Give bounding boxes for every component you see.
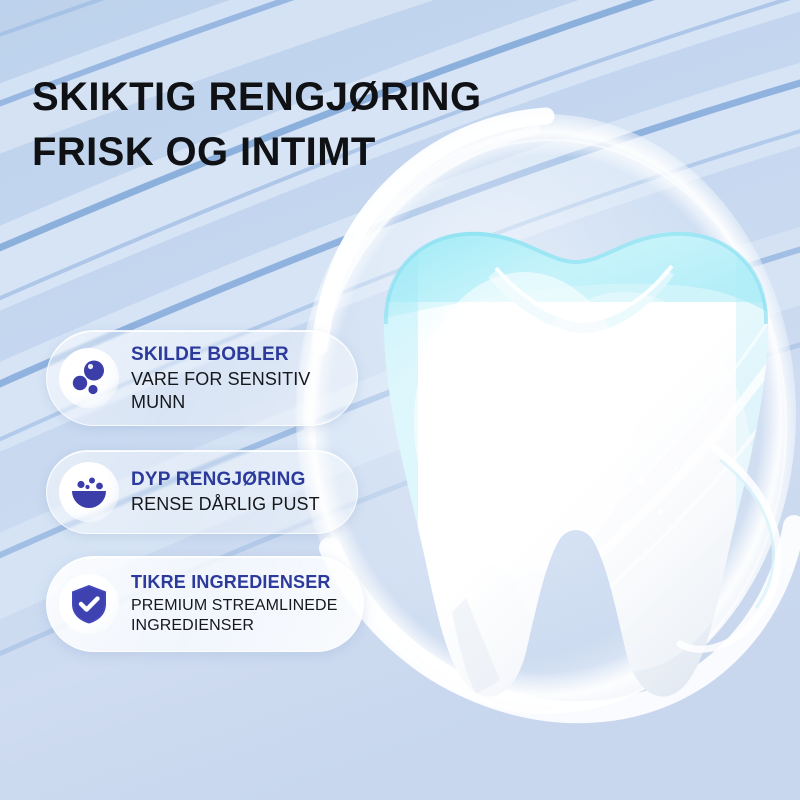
feature-card-deep-clean[interactable]: DYP RENGJØRING RENSE DÅRLIG PUST	[46, 450, 358, 534]
feature-card-bubbles[interactable]: SKILDE BOBLER VARE FOR SENSITIV MUNN	[46, 330, 358, 426]
feature-card-text: TIKRE INGREDIENSER PREMIUM STREAMLINEDE …	[131, 572, 347, 636]
page-title: SKIKTIG RENGJØRING FRISK OG INTIMT	[32, 70, 481, 180]
feature-subtitle: VARE FOR SENSITIV MUNN	[131, 368, 341, 413]
feature-title: DYP RENGJØRING	[131, 468, 320, 491]
shield-check-icon	[59, 574, 119, 634]
feature-card-list: SKILDE BOBLER VARE FOR SENSITIV MUNN DYP…	[46, 330, 366, 652]
feature-subtitle: PREMIUM STREAMLINEDE INGREDIENSER	[131, 596, 347, 636]
banner-canvas: SKIKTIG RENGJØRING FRISK OG INTIMT SKILD…	[0, 0, 800, 800]
bubbles-icon	[59, 348, 119, 408]
cleaning-bowl-icon	[59, 462, 119, 522]
feature-card-text: SKILDE BOBLER VARE FOR SENSITIV MUNN	[131, 343, 341, 413]
headline-line-1: SKIKTIG RENGJØRING	[32, 70, 481, 125]
feature-subtitle: RENSE DÅRLIG PUST	[131, 493, 320, 516]
feature-card-text: DYP RENGJØRING RENSE DÅRLIG PUST	[131, 468, 320, 516]
feature-title: TIKRE INGREDIENSER	[131, 572, 347, 594]
feature-card-safe-ingredients[interactable]: TIKRE INGREDIENSER PREMIUM STREAMLINEDE …	[46, 556, 364, 652]
feature-title: SKILDE BOBLER	[131, 343, 341, 366]
headline-line-2: FRISK OG INTIMT	[32, 125, 481, 180]
